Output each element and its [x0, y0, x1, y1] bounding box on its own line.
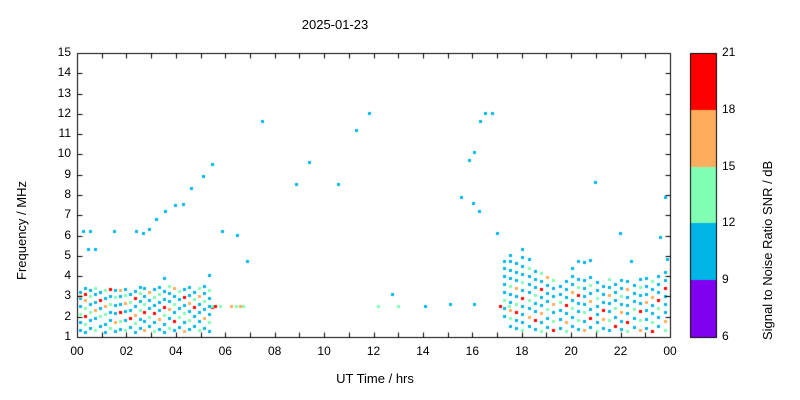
y-axis-title: Frequency / MHz — [14, 181, 29, 280]
x-tick-label-22-22: 22 — [601, 344, 641, 358]
y-tick-label-2: 2 — [41, 309, 71, 323]
x-tick-label-16-16: 16 — [452, 344, 492, 358]
colorbar-tick-label-9: 9 — [722, 272, 748, 286]
y-tick-label-10: 10 — [41, 146, 71, 160]
y-tick-label-1: 1 — [41, 329, 71, 343]
x-tick-label-00-24: 00 — [650, 344, 690, 358]
x-axis-title: UT Time / hrs — [0, 371, 750, 386]
y-tick-label-9: 9 — [41, 167, 71, 181]
y-tick-label-12: 12 — [41, 106, 71, 120]
y-tick-label-11: 11 — [41, 126, 71, 140]
y-tick-label-5: 5 — [41, 248, 71, 262]
colorbar-tick-label-21: 21 — [722, 45, 748, 59]
colorbar-tick-label-12: 12 — [722, 215, 748, 229]
y-tick-label-8: 8 — [41, 187, 71, 201]
x-tick-label-08-8: 08 — [255, 344, 295, 358]
scatter-plot-canvas — [0, 0, 800, 400]
x-tick-label-10-10: 10 — [304, 344, 344, 358]
colorbar-title: Signal to Noise Ratio SNR / dB — [760, 161, 775, 340]
chart-title: 2025-01-23 — [0, 17, 670, 32]
x-tick-label-02-2: 02 — [106, 344, 146, 358]
y-tick-label-7: 7 — [41, 207, 71, 221]
colorbar-tick-label-6: 6 — [722, 329, 748, 343]
colorbar-tick-label-15: 15 — [722, 159, 748, 173]
y-tick-label-15: 15 — [41, 45, 71, 59]
x-tick-label-00-0: 00 — [57, 344, 97, 358]
y-tick-label-14: 14 — [41, 65, 71, 79]
x-tick-label-18-18: 18 — [502, 344, 542, 358]
y-tick-label-13: 13 — [41, 86, 71, 100]
x-tick-label-14-14: 14 — [403, 344, 443, 358]
y-tick-label-4: 4 — [41, 268, 71, 282]
chart-root: 2025-01-23 Frequency / MHz UT Time / hrs… — [0, 0, 800, 400]
x-tick-label-04-4: 04 — [156, 344, 196, 358]
x-tick-label-06-6: 06 — [205, 344, 245, 358]
y-tick-label-3: 3 — [41, 288, 71, 302]
x-tick-label-12-12: 12 — [354, 344, 394, 358]
x-tick-label-20-20: 20 — [551, 344, 591, 358]
colorbar-tick-label-18: 18 — [722, 102, 748, 116]
y-tick-label-6: 6 — [41, 228, 71, 242]
